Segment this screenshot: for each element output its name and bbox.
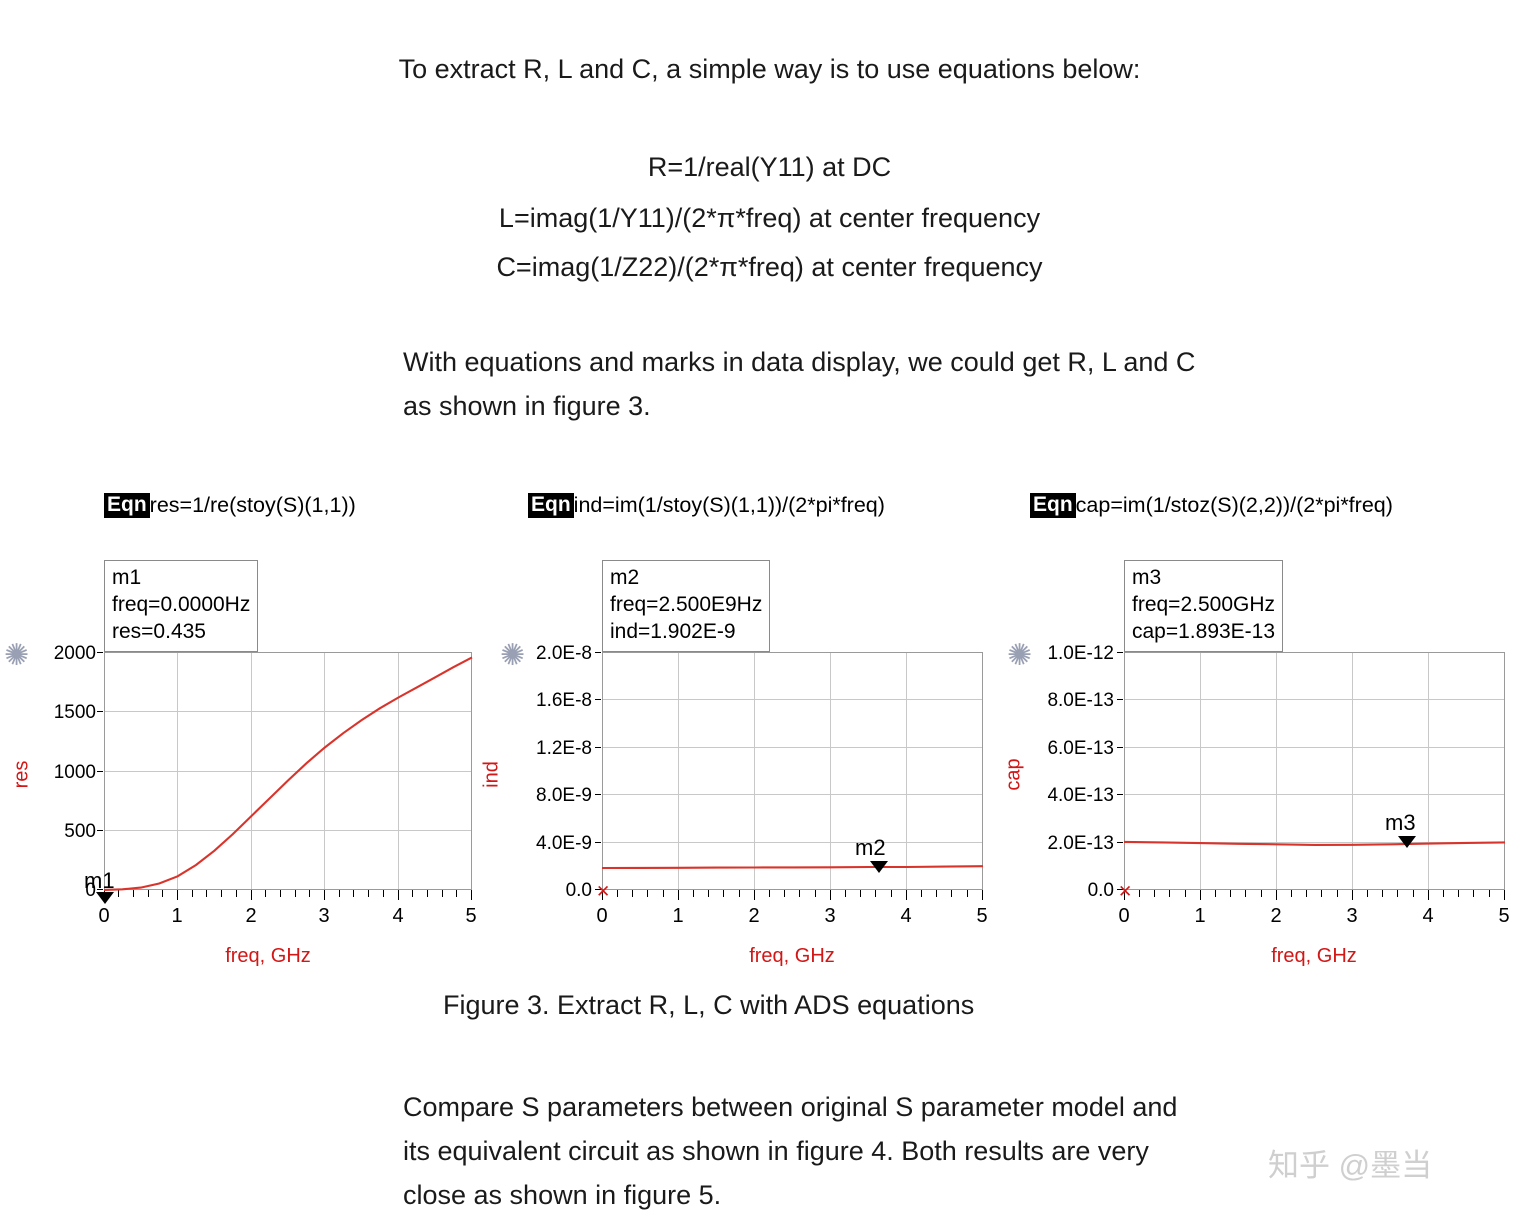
xtick-minor	[162, 890, 163, 897]
marker-box-m2-name: m2	[610, 565, 762, 592]
marker-triangle-m1	[96, 892, 114, 904]
ytick-label: 4.0E-9	[492, 833, 592, 855]
ytick-label: 1000	[34, 762, 96, 784]
xtick-minor	[1169, 890, 1170, 897]
ytick-label: 0.0	[1008, 880, 1114, 902]
paragraph-2-line-2-text: its equivalent circuit as shown in figur…	[403, 1136, 1149, 1166]
xtick-minor	[1230, 890, 1231, 897]
xtick-minor	[617, 890, 618, 897]
xtick-label: 3	[304, 905, 344, 928]
paragraph-1-line-1-text: With equations and marks in data display…	[403, 347, 1195, 377]
equation-1: R=1/real(Y11) at DC	[0, 148, 1539, 186]
xtick-major	[1200, 890, 1201, 900]
xtick-minor	[353, 890, 354, 897]
xtick-label: 0	[582, 905, 622, 928]
ytick-dash	[97, 652, 103, 653]
paragraph-2-line-3-text: close as shown in figure 5.	[403, 1180, 721, 1210]
xtick-major	[471, 890, 472, 900]
xtick-minor	[921, 890, 922, 897]
xaxis-title-ind: freq, GHz	[692, 945, 892, 968]
xaxis-title-cap: freq, GHz	[1214, 945, 1414, 968]
xtick-minor	[723, 890, 724, 897]
chart-panel-res: Eqnres=1/re(stoy(S)(1,1)) m1 freq=0.0000…	[0, 480, 500, 980]
xtick-minor	[221, 890, 222, 897]
xtick-minor	[769, 890, 770, 897]
eqn-badge-icon: Eqn	[1030, 493, 1076, 518]
xtick-label: 4	[886, 905, 926, 928]
xtick-major	[982, 890, 983, 900]
xtick-minor	[1413, 890, 1414, 897]
ytick-dash	[1117, 652, 1123, 653]
xtick-major	[398, 890, 399, 900]
xtick-label: 4	[1408, 905, 1448, 928]
marker-box-m1: m1 freq=0.0000Hz res=0.435	[104, 560, 258, 652]
xtick-minor	[442, 890, 443, 897]
xtick-minor	[1382, 890, 1383, 897]
eqn-text-ind: ind=im(1/stoy(S)(1,1))/(2*pi*freq)	[574, 493, 885, 518]
xtick-label: 2	[1256, 905, 1296, 928]
xtick-minor	[1245, 890, 1246, 897]
paragraph-2-line-3: close as shown in figure 5.	[403, 1176, 721, 1214]
eqn-row-ind: Eqnind=im(1/stoy(S)(1,1))/(2*pi*freq)	[528, 492, 885, 518]
xtick-major	[754, 890, 755, 900]
xtick-label: 1	[1180, 905, 1220, 928]
ytick-label: 1.0E-12	[1008, 643, 1114, 665]
xtick-minor	[118, 890, 119, 897]
xtick-minor	[309, 890, 310, 897]
marker-box-m3-freq: freq=2.500GHz	[1132, 592, 1275, 619]
xtick-minor	[1306, 890, 1307, 897]
marker-box-m1-freq: freq=0.0000Hz	[112, 592, 250, 619]
xtick-label: 2	[734, 905, 774, 928]
xtick-minor	[860, 890, 861, 897]
marker-box-m2: m2 freq=2.500E9Hz ind=1.902E-9	[602, 560, 770, 652]
eqn-badge-icon: Eqn	[528, 493, 574, 518]
xtick-minor	[647, 890, 648, 897]
ytick-label: 500	[34, 821, 96, 843]
ytick-dash	[595, 652, 601, 653]
ytick-dash	[1117, 747, 1123, 748]
eqn-row-res: Eqnres=1/re(stoy(S)(1,1))	[104, 492, 356, 518]
xtick-minor	[1443, 890, 1444, 897]
xtick-minor	[1139, 890, 1140, 897]
xtick-minor	[265, 890, 266, 897]
xtick-minor	[1261, 890, 1262, 897]
xtick-minor	[192, 890, 193, 897]
ytick-dash	[1117, 842, 1123, 843]
xtick-label: 5	[451, 905, 491, 928]
xtick-major	[906, 890, 907, 900]
figure-caption: Figure 3. Extract R, L, C with ADS equat…	[443, 990, 974, 1021]
paragraph-2-line-1: Compare S parameters between original S …	[403, 1088, 1177, 1126]
equation-1-text: R=1/real(Y11) at DC	[648, 152, 891, 182]
xtick-major	[1504, 890, 1505, 900]
xtick-minor	[1291, 890, 1292, 897]
xtick-minor	[1367, 890, 1368, 897]
xtick-minor	[632, 890, 633, 897]
marker-box-m2-value: ind=1.902E-9	[610, 619, 762, 646]
intro-heading: To extract R, L and C, a simple way is t…	[0, 50, 1539, 88]
xtick-minor	[456, 890, 457, 897]
chart-panel-ind: Eqnind=im(1/stoy(S)(1,1))/(2*pi*freq) m2…	[500, 480, 1000, 980]
xtick-minor	[236, 890, 237, 897]
xaxis-title-res: freq, GHz	[168, 945, 368, 968]
xtick-minor	[383, 890, 384, 897]
ytick-label: 2000	[34, 643, 96, 665]
ytick-label: 8.0E-13	[1008, 690, 1114, 712]
data-series-cap	[1124, 652, 1505, 890]
equation-2: L=imag(1/Y11)/(2*π*freq) at center frequ…	[0, 199, 1539, 237]
ytick-label: 8.0E-9	[492, 785, 592, 807]
xtick-minor	[1337, 890, 1338, 897]
yaxis-title-ind: ind	[481, 745, 504, 805]
eqn-text-cap: cap=im(1/stoz(S)(2,2))/(2*pi*freq)	[1076, 493, 1393, 518]
xtick-minor	[1489, 890, 1490, 897]
marker-box-m1-name: m1	[112, 565, 250, 592]
ytick-dash	[595, 747, 601, 748]
xtick-minor	[967, 890, 968, 897]
ytick-dash	[97, 830, 103, 831]
xtick-minor	[368, 890, 369, 897]
marker-box-m1-value: res=0.435	[112, 619, 250, 646]
paragraph-2-line-2: its equivalent circuit as shown in figur…	[403, 1132, 1149, 1170]
xtick-label: 0	[1104, 905, 1144, 928]
xtick-minor	[206, 890, 207, 897]
xtick-minor	[891, 890, 892, 897]
xtick-major	[324, 890, 325, 900]
watermark-text: 知乎 @墨当	[1268, 1148, 1432, 1183]
figure-3-charts: Eqnres=1/re(stoy(S)(1,1)) m1 freq=0.0000…	[0, 480, 1539, 980]
ytick-dash	[97, 771, 103, 772]
marker-triangle-m3	[1398, 836, 1416, 848]
xtick-label: 1	[157, 905, 197, 928]
xtick-minor	[1321, 890, 1322, 897]
paragraph-1-line-2-text: as shown in figure 3.	[403, 391, 651, 421]
marker-box-m3: m3 freq=2.500GHz cap=1.893E-13	[1124, 560, 1283, 652]
marker-label-m2: m2	[855, 835, 886, 861]
watermark: 知乎 @墨当	[1268, 1140, 1432, 1185]
marker-label-m3: m3	[1385, 810, 1416, 836]
paragraph-2-line-1-text: Compare S parameters between original S …	[403, 1092, 1177, 1122]
ytick-dash	[595, 794, 601, 795]
xtick-minor	[1154, 890, 1155, 897]
xtick-label: 2	[231, 905, 271, 928]
xtick-major	[1352, 890, 1353, 900]
ytick-dash	[97, 711, 103, 712]
data-series-res	[104, 652, 472, 890]
xtick-label: 3	[1332, 905, 1372, 928]
xtick-minor	[1215, 890, 1216, 897]
equation-3-text: C=imag(1/Z22)/(2*π*freq) at center frequ…	[496, 252, 1042, 282]
paragraph-1-line-1: With equations and marks in data display…	[403, 343, 1195, 381]
figure-caption-text: Figure 3. Extract R, L, C with ADS equat…	[443, 990, 974, 1020]
ytick-label: 1.6E-8	[492, 690, 592, 712]
xtick-label: 3	[810, 905, 850, 928]
xtick-minor	[951, 890, 952, 897]
ytick-dash	[595, 842, 601, 843]
xtick-major	[251, 890, 252, 900]
eqn-text-res: res=1/re(stoy(S)(1,1))	[150, 493, 356, 518]
xtick-major	[1276, 890, 1277, 900]
xtick-minor	[133, 890, 134, 897]
xtick-major	[177, 890, 178, 900]
xtick-minor	[739, 890, 740, 897]
xtick-minor	[427, 890, 428, 897]
xtick-label: 0	[84, 905, 124, 928]
ytick-dash	[1117, 699, 1123, 700]
marker-triangle-m2	[870, 861, 888, 873]
xtick-minor	[1397, 890, 1398, 897]
equation-3: C=imag(1/Z22)/(2*π*freq) at center frequ…	[0, 248, 1539, 286]
data-series-ind	[602, 652, 983, 890]
marker-box-m3-value: cap=1.893E-13	[1132, 619, 1275, 646]
xtick-minor	[693, 890, 694, 897]
origin-x-marker: ✕	[1118, 883, 1132, 900]
xtick-minor	[280, 890, 281, 897]
xtick-label: 1	[658, 905, 698, 928]
ytick-label: 2.0E-13	[1008, 833, 1114, 855]
ytick-label: 1.2E-8	[492, 738, 592, 760]
xtick-minor	[295, 890, 296, 897]
xtick-minor	[339, 890, 340, 897]
marker-label-m1: m1	[84, 868, 115, 894]
ytick-label: 1500	[34, 702, 96, 724]
eqn-badge-icon: Eqn	[104, 493, 150, 518]
equation-2-text: L=imag(1/Y11)/(2*π*freq) at center frequ…	[499, 203, 1040, 233]
xtick-label: 5	[962, 905, 1002, 928]
marker-box-m2-freq: freq=2.500E9Hz	[610, 592, 762, 619]
intro-heading-text: To extract R, L and C, a simple way is t…	[399, 54, 1141, 84]
origin-x-marker: ✕	[596, 883, 610, 900]
xtick-minor	[663, 890, 664, 897]
xtick-minor	[1185, 890, 1186, 897]
yaxis-title-res: res	[11, 745, 34, 805]
xtick-label: 4	[378, 905, 418, 928]
xtick-minor	[412, 890, 413, 897]
ytick-label: 0.0	[492, 880, 592, 902]
xtick-major	[678, 890, 679, 900]
xtick-major	[1428, 890, 1429, 900]
paragraph-1-line-2: as shown in figure 3.	[403, 387, 651, 425]
xtick-minor	[875, 890, 876, 897]
ytick-dash	[595, 699, 601, 700]
xtick-minor	[845, 890, 846, 897]
xtick-minor	[708, 890, 709, 897]
ytick-dash	[1117, 794, 1123, 795]
chart-panel-cap: Eqncap=im(1/stoz(S)(2,2))/(2*pi*freq) m3…	[1000, 480, 1539, 980]
eqn-row-cap: Eqncap=im(1/stoz(S)(2,2))/(2*pi*freq)	[1030, 492, 1393, 518]
yaxis-title-cap: cap	[1003, 745, 1026, 805]
asterisk-icon: ✺	[4, 641, 29, 671]
xtick-minor	[799, 890, 800, 897]
xtick-minor	[148, 890, 149, 897]
xtick-minor	[1473, 890, 1474, 897]
xtick-minor	[936, 890, 937, 897]
xtick-minor	[815, 890, 816, 897]
xtick-label: 5	[1484, 905, 1524, 928]
xtick-minor	[784, 890, 785, 897]
xtick-minor	[1458, 890, 1459, 897]
ytick-label: 2.0E-8	[492, 643, 592, 665]
xtick-major	[830, 890, 831, 900]
marker-box-m3-name: m3	[1132, 565, 1275, 592]
